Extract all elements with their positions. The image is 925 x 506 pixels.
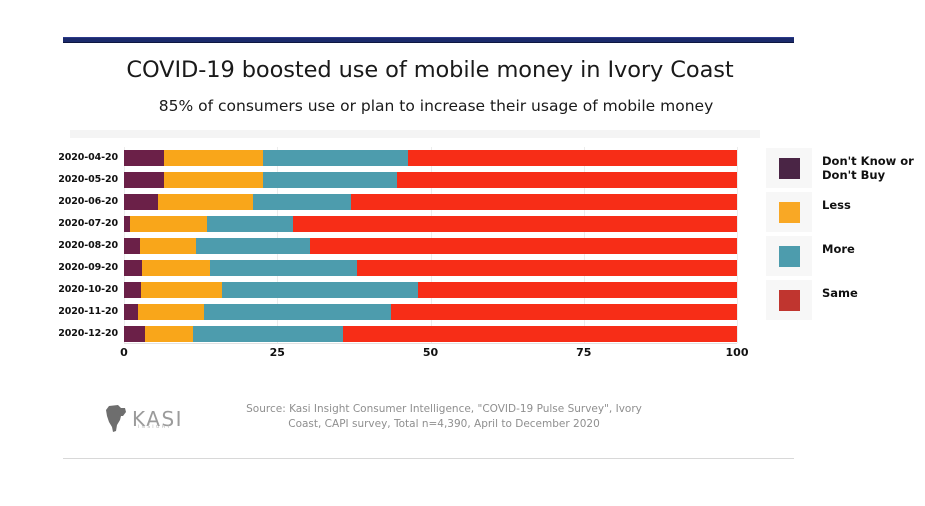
- bar-segment: [158, 194, 253, 210]
- bar-segment: [408, 150, 737, 166]
- bottom-divider: [63, 458, 794, 459]
- bar-segment: [397, 172, 737, 188]
- bar-segment: [391, 304, 737, 320]
- chart-bar-row: [124, 279, 737, 301]
- bar-segment: [130, 216, 207, 232]
- bar-segment: [293, 216, 737, 232]
- bar-segment: [124, 194, 158, 210]
- stacked-bar: [124, 150, 737, 166]
- bar-segment: [138, 304, 204, 320]
- bar-segment: [124, 238, 140, 254]
- stacked-bar: [124, 216, 737, 232]
- kasi-logo-subtext: INSIGHT: [138, 425, 172, 430]
- bar-segment: [263, 172, 397, 188]
- africa-map-icon: [104, 404, 130, 434]
- legend-label: Don't Know or Don't Buy: [822, 148, 914, 182]
- bar-segment: [145, 326, 193, 342]
- stacked-bar: [124, 260, 737, 276]
- legend-swatch-cell: [766, 280, 812, 320]
- bar-segment: [196, 238, 311, 254]
- chart-bars: [124, 147, 737, 345]
- y-axis-label: 2020-04-20: [38, 147, 118, 169]
- bar-segment: [210, 260, 357, 276]
- y-axis-label: 2020-06-20: [38, 191, 118, 213]
- chart-bar-row: [124, 169, 737, 191]
- bar-segment: [204, 304, 391, 320]
- stacked-bar: [124, 304, 737, 320]
- bar-segment: [263, 150, 408, 166]
- stacked-bar: [124, 194, 737, 210]
- legend-swatch-cell: [766, 236, 812, 276]
- legend-color-swatch: [779, 290, 800, 311]
- chart-x-axis-line: [124, 343, 737, 344]
- chart-y-axis-labels: 2020-04-202020-05-202020-06-202020-07-20…: [38, 147, 118, 345]
- source-note: Source: Kasi Insight Consumer Intelligen…: [228, 402, 660, 432]
- y-axis-label: 2020-10-20: [38, 279, 118, 301]
- bar-segment: [124, 150, 164, 166]
- legend-item[interactable]: Don't Know or Don't Buy: [766, 148, 914, 192]
- x-axis-tick-label: 50: [423, 346, 438, 359]
- chart-bar-row: [124, 213, 737, 235]
- legend-swatch-cell: [766, 192, 812, 232]
- legend-label: More: [822, 236, 855, 257]
- chart-bar-row: [124, 323, 737, 345]
- bar-segment: [193, 326, 343, 342]
- chart-legend: Don't Know or Don't BuyLessMoreSame: [766, 148, 914, 324]
- slide: COVID-19 boosted use of mobile money in …: [0, 0, 925, 506]
- x-axis-tick-label: 0: [120, 346, 128, 359]
- chart-bar-row: [124, 235, 737, 257]
- stacked-bar: [124, 282, 737, 298]
- bar-segment: [124, 282, 141, 298]
- bar-segment: [124, 326, 145, 342]
- y-axis-label: 2020-05-20: [38, 169, 118, 191]
- y-axis-label: 2020-08-20: [38, 235, 118, 257]
- legend-label: Less: [822, 192, 851, 213]
- x-axis-tick-label: 25: [270, 346, 285, 359]
- bar-segment: [418, 282, 737, 298]
- x-axis-tick-label: 75: [576, 346, 591, 359]
- bar-segment: [164, 172, 263, 188]
- legend-item[interactable]: More: [766, 236, 914, 280]
- legend-swatch-cell: [766, 148, 812, 188]
- bar-segment: [357, 260, 737, 276]
- legend-color-swatch: [779, 246, 800, 267]
- bar-segment: [141, 282, 222, 298]
- chart-plot-background: [70, 130, 760, 138]
- stacked-bar: [124, 172, 737, 188]
- bar-segment: [207, 216, 293, 232]
- y-axis-label: 2020-09-20: [38, 257, 118, 279]
- bar-segment: [164, 150, 263, 166]
- y-axis-label: 2020-07-20: [38, 213, 118, 235]
- bar-segment: [124, 260, 142, 276]
- chart-bar-row: [124, 191, 737, 213]
- legend-label: Same: [822, 280, 858, 301]
- bar-segment: [222, 282, 418, 298]
- kasi-logo: KASI INSIGHT: [104, 402, 212, 436]
- x-axis-tick-label: 100: [726, 346, 749, 359]
- gridline: [737, 147, 738, 343]
- legend-item[interactable]: Same: [766, 280, 914, 324]
- bar-segment: [253, 194, 351, 210]
- bar-segment: [310, 238, 737, 254]
- stacked-bar: [124, 326, 737, 342]
- stacked-bar: [124, 238, 737, 254]
- y-axis-label: 2020-12-20: [38, 323, 118, 345]
- chart-bar-row: [124, 147, 737, 169]
- bar-segment: [351, 194, 737, 210]
- y-axis-label: 2020-11-20: [38, 301, 118, 323]
- bar-segment: [140, 238, 196, 254]
- legend-color-swatch: [779, 158, 800, 179]
- bar-segment: [142, 260, 209, 276]
- chart-bar-row: [124, 301, 737, 323]
- legend-item[interactable]: Less: [766, 192, 914, 236]
- bar-segment: [124, 304, 138, 320]
- bar-segment: [124, 172, 164, 188]
- legend-color-swatch: [779, 202, 800, 223]
- bar-segment: [343, 326, 737, 342]
- chart-bar-row: [124, 257, 737, 279]
